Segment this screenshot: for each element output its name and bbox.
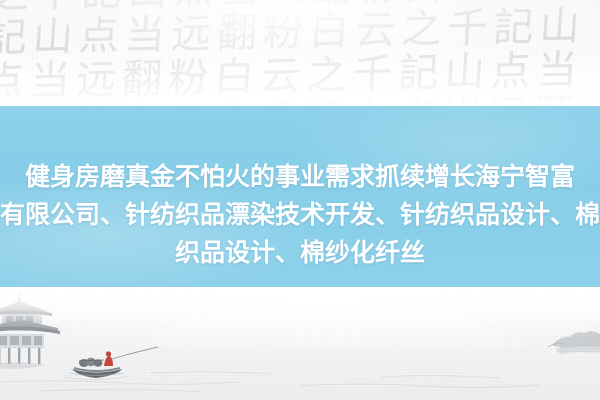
ink-landscape-illustration (0, 287, 600, 400)
headline-line-3: 织品设计、棉纱化纤丝 (0, 234, 600, 272)
distant-mountain-ridge (548, 331, 600, 354)
ink-wash-landscape-band (0, 287, 600, 400)
promotional-banner: 之千記山点当远翻粉白云之千記山点当远翻粉白云之千記山点当远翻粉白云之千記山点当远… (0, 0, 600, 400)
headline-blue-band: 健身房磨真金不怕火的事业需求抓续增长海宁智富 有限公司、针纺织品漂染技术开发、针… (0, 106, 600, 287)
calligraphy-fade-overlay (0, 0, 600, 107)
headline-line-1: 健身房磨真金不怕火的事业需求抓续增长海宁智富 (0, 158, 600, 196)
headline-line-2: 有限公司、针纺织品漂染技术开发、针纺织品设计、棉 (0, 196, 600, 234)
calligraphy-paper-band: 之千記山点当远翻粉白云之千記山点当远翻粉白云之千記山点当远翻粉白云之千記山点当远… (0, 0, 600, 107)
fishing-boat (66, 347, 158, 380)
headline-text-block: 健身房磨真金不怕火的事业需求抓续增长海宁智富 有限公司、针纺织品漂染技术开发、针… (0, 158, 600, 272)
boatman-red-robe (104, 356, 113, 366)
